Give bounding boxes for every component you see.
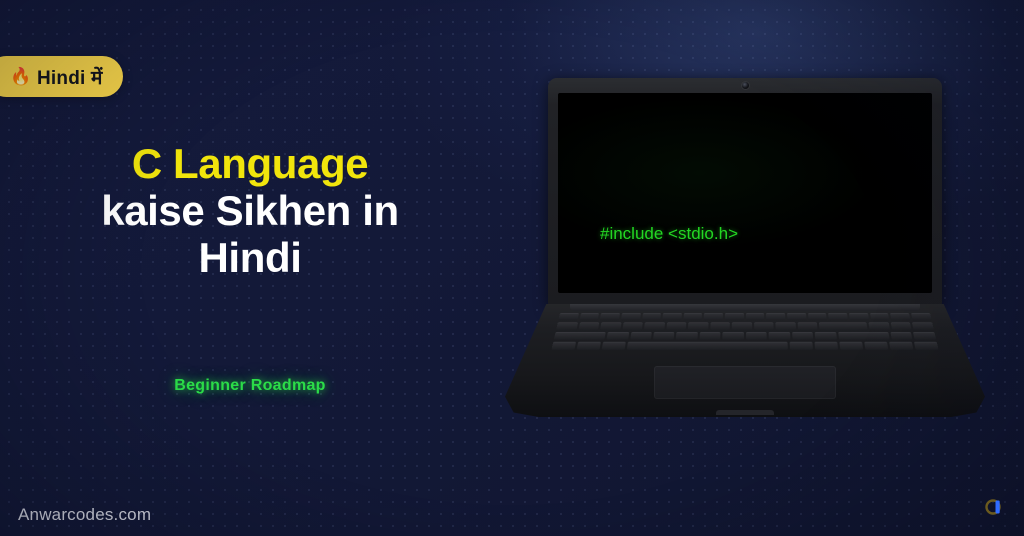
key (890, 332, 913, 340)
key (829, 313, 849, 320)
key (644, 322, 665, 330)
lid-release-notch (716, 410, 774, 415)
laptop-keyboard (550, 313, 940, 357)
key (849, 313, 869, 320)
key (663, 313, 682, 320)
key (732, 322, 752, 330)
key (607, 332, 629, 340)
keyboard-row (554, 332, 936, 340)
key (838, 332, 890, 340)
key (911, 313, 931, 320)
keyboard-row (556, 322, 934, 330)
key (577, 342, 601, 350)
key (700, 332, 721, 340)
key (600, 322, 621, 330)
left-text-column: 🔥 Hindi में C Language kaise Sikhen in H… (0, 0, 500, 536)
code-editor-text: #include <stdio.h> int main() { printf("… (600, 149, 791, 293)
key (602, 342, 626, 350)
key (723, 332, 744, 340)
keyboard-row (558, 313, 931, 320)
webcam-icon (742, 82, 749, 89)
page-title: C Language kaise Sikhen in Hindi (0, 140, 500, 281)
key (622, 322, 643, 330)
key (746, 332, 767, 340)
key (754, 322, 774, 330)
laptop-base (505, 304, 985, 417)
key (579, 313, 599, 320)
key (630, 332, 652, 340)
key (797, 322, 817, 330)
key (710, 322, 730, 330)
key (552, 342, 577, 350)
key (704, 313, 723, 320)
key (814, 342, 838, 350)
key (600, 313, 620, 320)
key (912, 322, 934, 330)
key (869, 322, 890, 330)
key (890, 322, 911, 330)
space-key (627, 342, 788, 350)
key (890, 313, 910, 320)
key (913, 332, 936, 340)
key (776, 322, 796, 330)
key (554, 332, 606, 340)
key (642, 313, 662, 320)
site-credit: Anwarcodes.com (18, 505, 151, 525)
laptop-screen: #include <stdio.h> int main() { printf("… (558, 93, 932, 293)
trackpad (654, 366, 836, 399)
title-line-3: Hindi (0, 234, 500, 281)
key (676, 332, 698, 340)
key (621, 313, 641, 320)
key (725, 313, 744, 320)
thumbnail-canvas: 🔥 Hindi में C Language kaise Sikhen in H… (0, 0, 1024, 536)
fire-icon: 🔥 (10, 66, 28, 87)
key (767, 313, 786, 320)
key (787, 313, 806, 320)
key (578, 322, 599, 330)
code-line: #include <stdio.h> (600, 217, 791, 251)
title-line-1: C Language (0, 140, 500, 187)
laptop-bezel-top (548, 78, 942, 93)
hindi-badge-label: Hindi में (37, 64, 103, 90)
laptop-hinge (570, 304, 920, 311)
key (688, 322, 708, 330)
key (808, 313, 827, 320)
laptop-illustration: #include <stdio.h> int main() { printf("… (495, 60, 995, 425)
key (889, 342, 913, 350)
key (558, 313, 578, 320)
subtitle: Beginner Roadmap (0, 377, 500, 395)
title-line-2: kaise Sikhen in (0, 187, 500, 234)
key (746, 313, 765, 320)
key (870, 313, 890, 320)
keyboard-row (552, 342, 939, 350)
key (556, 322, 578, 330)
key (792, 332, 814, 340)
key (864, 342, 888, 350)
key (789, 342, 812, 350)
key (683, 313, 702, 320)
key (815, 332, 837, 340)
key (653, 332, 675, 340)
key (819, 322, 868, 330)
hindi-badge: 🔥 Hindi में (0, 56, 123, 97)
key (769, 332, 790, 340)
key (839, 342, 863, 350)
brand-logo (982, 494, 1008, 520)
laptop-lid: #include <stdio.h> int main() { printf("… (548, 78, 942, 306)
key (666, 322, 686, 330)
key (914, 342, 939, 350)
